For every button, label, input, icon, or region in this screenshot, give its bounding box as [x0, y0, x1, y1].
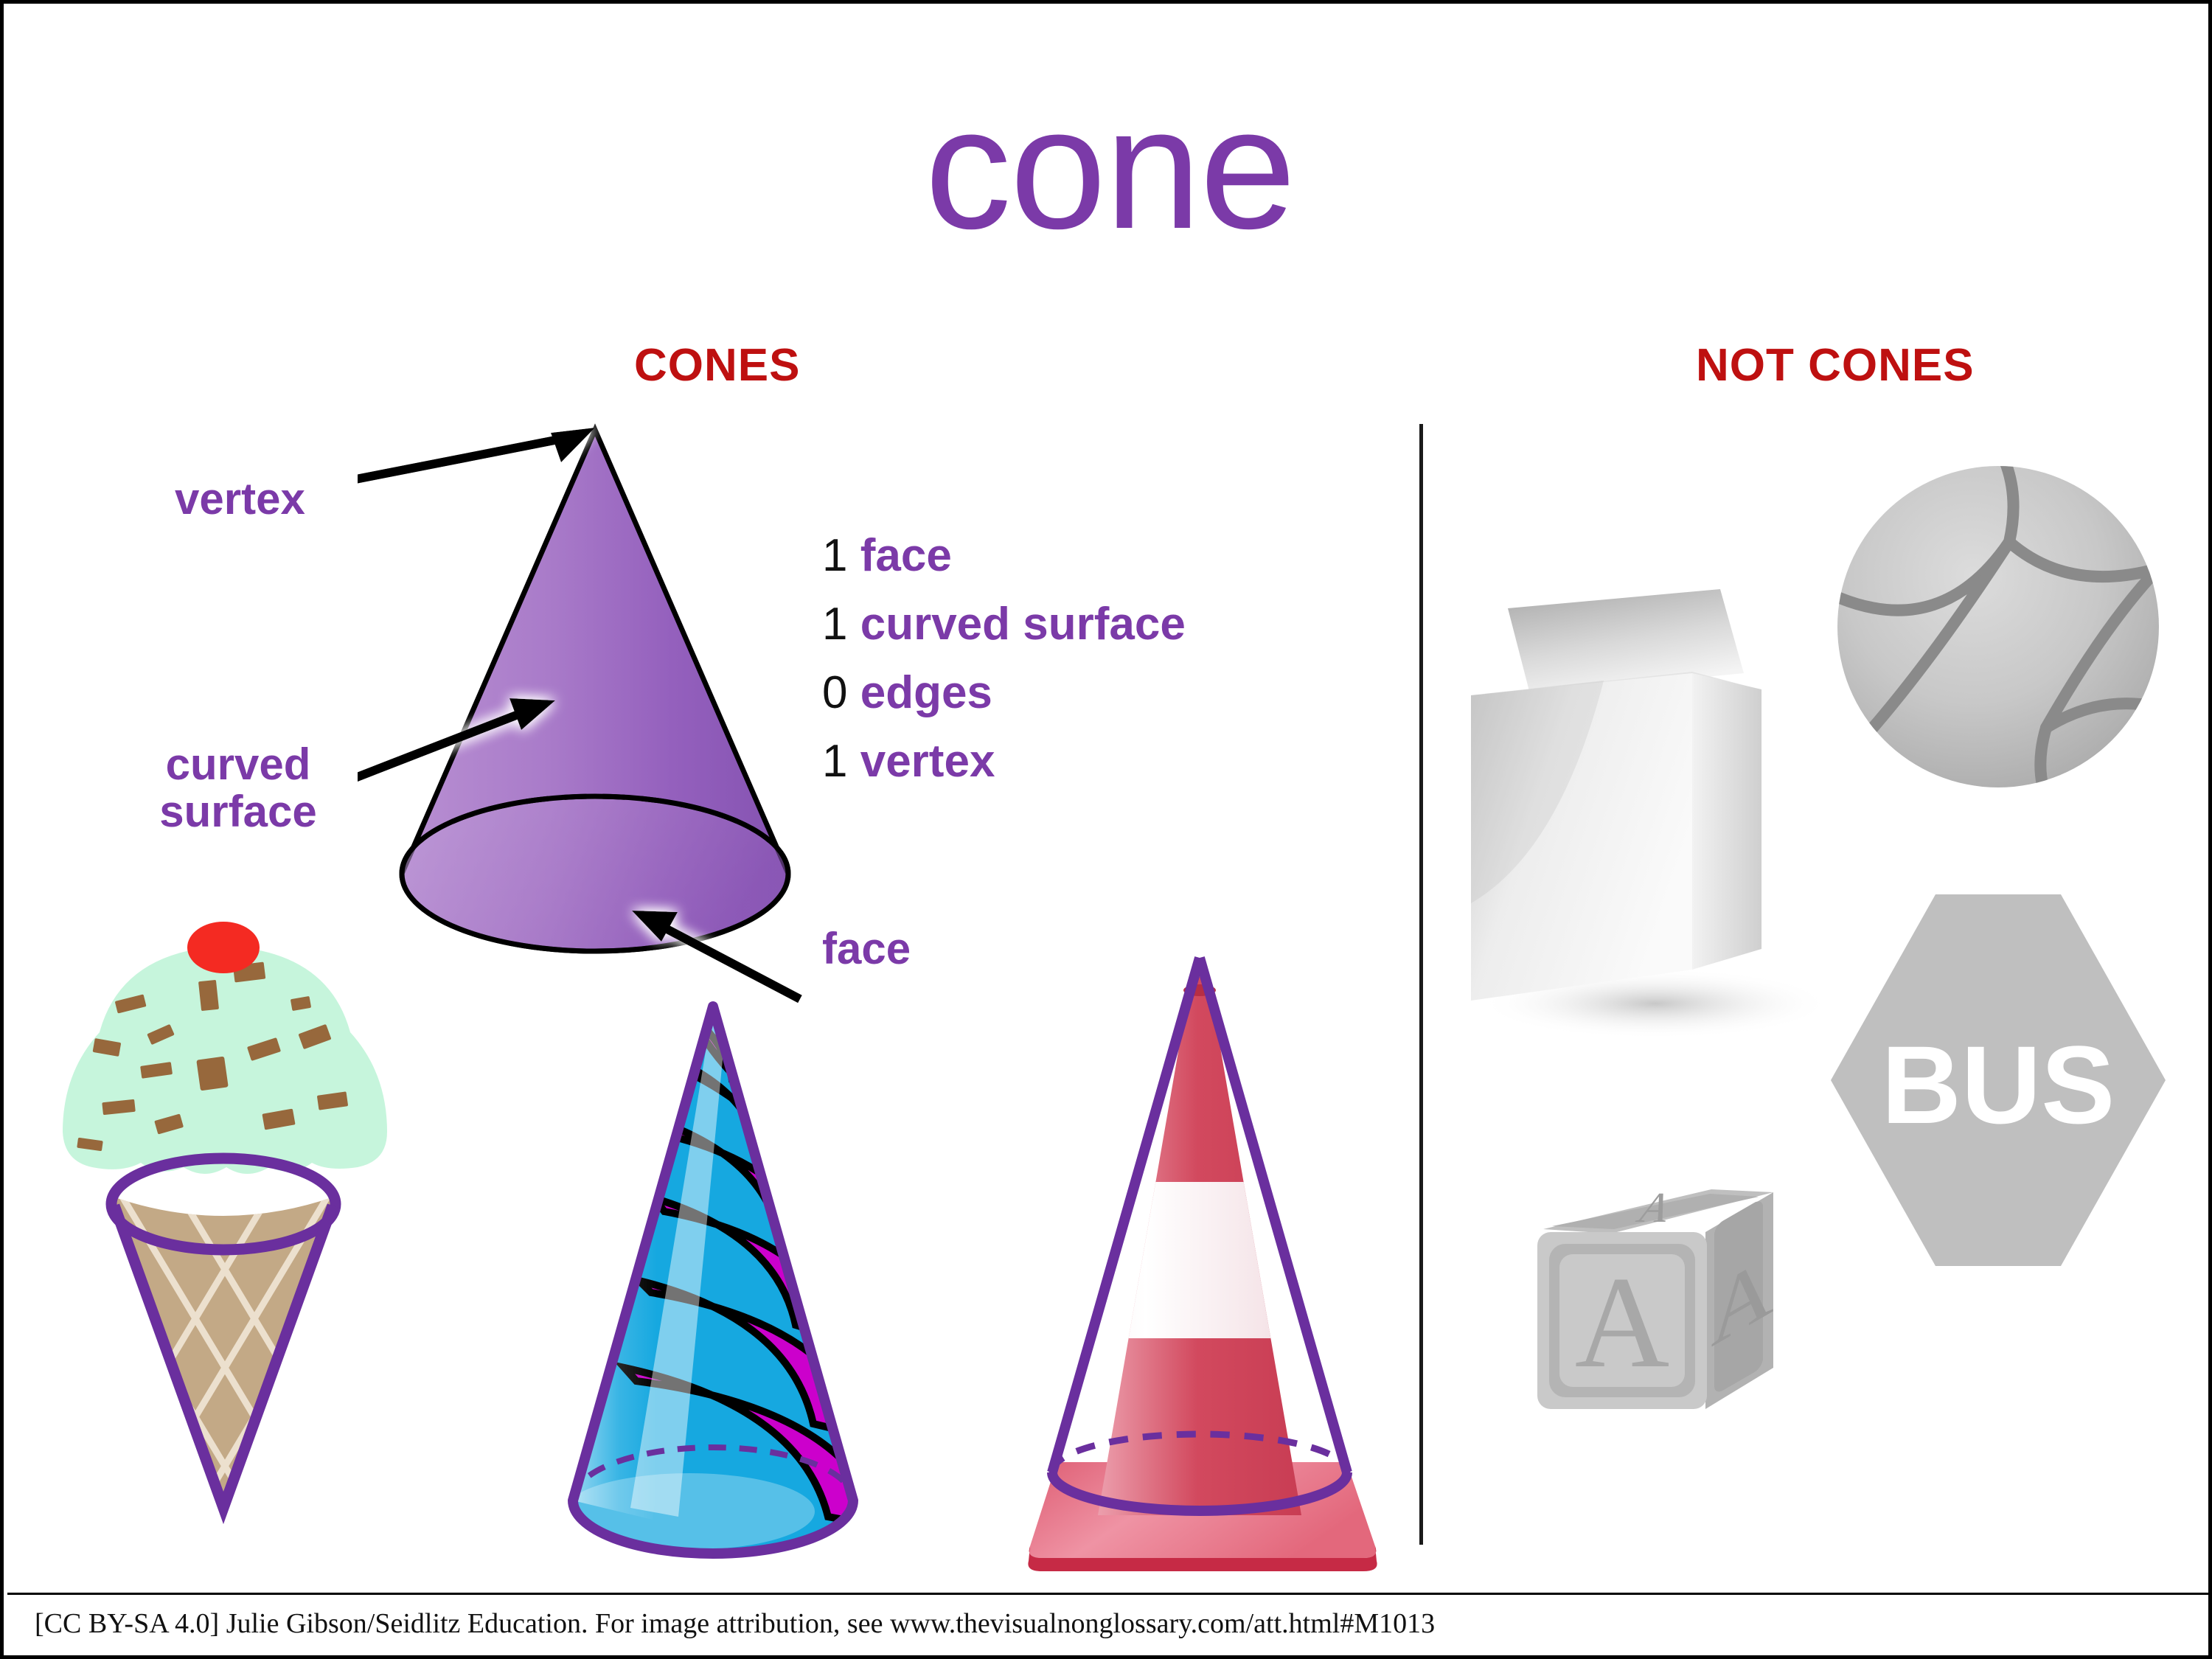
bus-sign: BUS	[1825, 888, 2171, 1272]
cardboard-box	[1471, 586, 1884, 1058]
page-title: cone	[4, 81, 2212, 254]
property-row: 1 vertex	[822, 727, 1186, 796]
traffic-cone	[1006, 947, 1405, 1596]
column-header-cones: CONES	[634, 339, 800, 392]
poster-canvas: cone CONES NOT CONES	[0, 0, 2212, 1659]
property-count: 1	[822, 736, 847, 787]
ice-cream-cone	[33, 888, 417, 1589]
bus-sign-label: BUS	[1882, 1023, 2115, 1147]
property-label: edges	[860, 667, 992, 718]
property-row: 1 face	[822, 521, 1186, 590]
attribution-text: [CC BY-SA 4.0] Julie Gibson/Seidlitz Edu…	[35, 1607, 1435, 1640]
property-row: 0 edges	[822, 658, 1186, 727]
property-row: 1 curved surface	[822, 590, 1186, 658]
label-curved-line1: curved	[166, 740, 311, 789]
block-front-letter: A	[1575, 1249, 1670, 1395]
label-curved-surface: curved surface	[142, 741, 334, 835]
vertex-arrow	[358, 428, 595, 512]
column-header-not-cones: NOT CONES	[1696, 339, 1975, 392]
cherry-icon	[187, 922, 260, 973]
cone-properties-list: 1 face 1 curved surface 0 edges 1 vertex	[822, 521, 1186, 796]
property-count: 0	[822, 667, 847, 718]
property-label: vertex	[860, 736, 995, 787]
basketball	[1825, 453, 2171, 800]
party-hat	[542, 992, 881, 1589]
property-count: 1	[822, 599, 847, 650]
label-curved-line2: surface	[159, 787, 316, 836]
column-divider	[1419, 424, 1423, 1545]
property-label: face	[860, 530, 952, 581]
alphabet-block: A A A	[1537, 1176, 1832, 1471]
ice-cream-scoop	[63, 922, 387, 1174]
footer-divider	[7, 1593, 2212, 1595]
waffle-cone	[33, 1158, 417, 1552]
box-side	[1692, 673, 1761, 970]
party-hat-body	[542, 992, 881, 1589]
label-vertex: vertex	[175, 476, 305, 523]
property-label: curved surface	[860, 599, 1186, 650]
property-count: 1	[822, 530, 847, 581]
label-face: face	[822, 925, 911, 973]
